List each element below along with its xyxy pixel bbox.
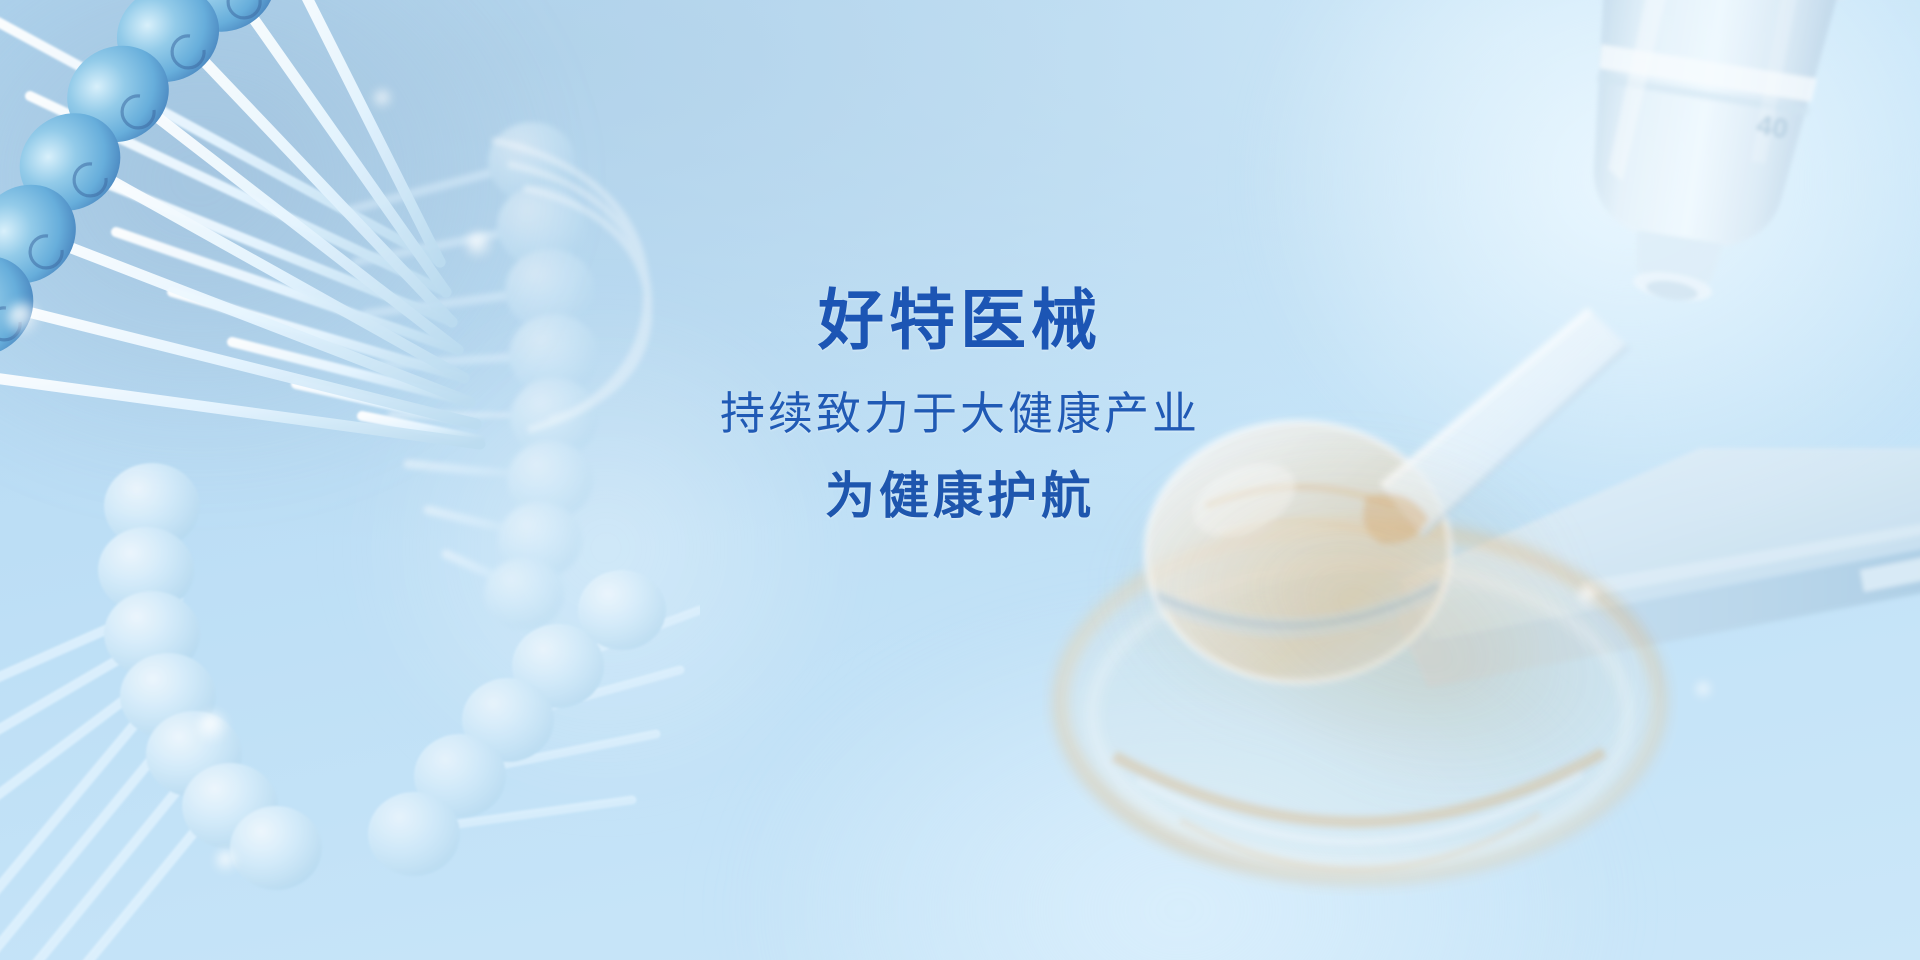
- page-title: 好特医械: [818, 286, 1102, 355]
- microscope-stage-graphic: [1340, 430, 1920, 730]
- ambient-glow-bottom: [730, 600, 1630, 960]
- page-tagline: 为健康护航: [825, 469, 1095, 524]
- microscope-objective-graphic: 40: [1400, 0, 1920, 470]
- dna-double-helix-graphic: [0, 0, 700, 960]
- page-subtitle: 持续致力于大健康产业: [720, 389, 1200, 439]
- ambient-glow-top-left: [0, 0, 580, 500]
- bokeh-dot: [466, 232, 492, 258]
- glassware-warm-wash: [1020, 330, 1720, 890]
- hero-banner: 40: [0, 0, 1920, 960]
- objective-magnification-label: 40: [1755, 109, 1791, 144]
- bokeh-dot: [198, 712, 228, 742]
- bokeh-dot: [1578, 586, 1598, 606]
- bokeh-dot: [6, 302, 40, 336]
- bokeh-dot: [216, 850, 238, 872]
- ambient-glow-center-left: [346, 288, 866, 808]
- hero-copy-block: 好特医械 持续致力于大健康产业 为健康护航: [0, 286, 1920, 524]
- ambient-glow-top-right: [1220, 0, 1920, 560]
- bokeh-dot: [1696, 682, 1712, 698]
- bokeh-dot: [374, 90, 392, 108]
- laboratory-flask-graphic: [1030, 300, 1750, 920]
